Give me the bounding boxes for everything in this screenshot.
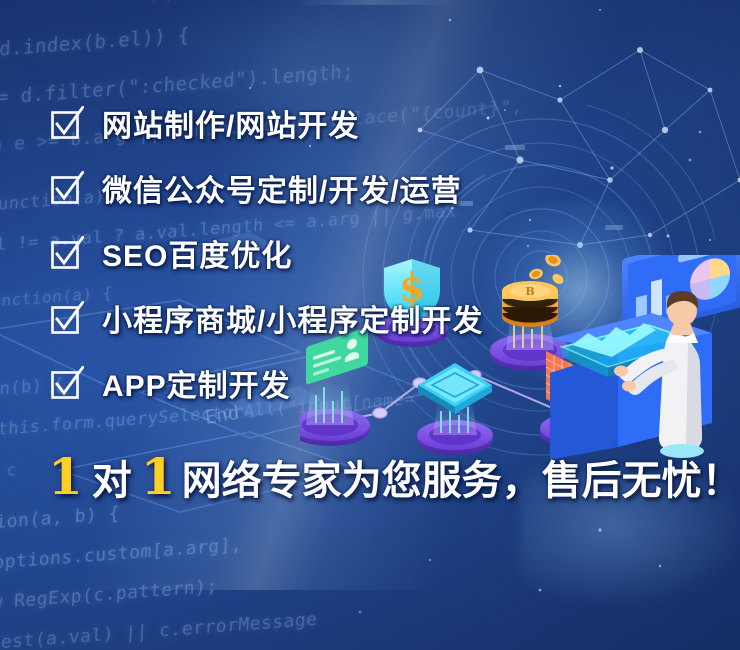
checklist-item-label: SEO百度优化 <box>102 231 292 275</box>
checklist-item-label: 小程序商城/小程序定制开发 <box>102 296 483 340</box>
checkbox-checked-icon <box>50 171 84 205</box>
headline-main-text: 网络专家为您服务，售后无忧！ <box>182 461 740 501</box>
checklist-item[interactable]: 小程序商城/小程序定制开发 <box>50 295 690 341</box>
checklist-item[interactable]: 网站制作/网站开发 <box>50 100 690 146</box>
headline-number-first: 1 <box>48 452 83 502</box>
checkbox-checked-icon <box>50 106 84 140</box>
checkbox-checked-icon <box>50 236 84 270</box>
checklist-item[interactable]: APP定制开发 <box>50 360 690 406</box>
checkbox-checked-icon <box>50 366 84 400</box>
checklist-item-label: APP定制开发 <box>102 361 291 405</box>
checklist-item[interactable]: SEO百度优化 <box>50 230 690 276</box>
checkbox-checked-icon <box>50 301 84 335</box>
headline-connector: 对 <box>92 461 132 501</box>
checklist-item[interactable]: 微信公众号定制/开发/运营 <box>50 165 690 211</box>
headline-number-second: 1 <box>141 452 176 502</box>
background-light-streak <box>0 0 740 5</box>
promo-banner: j.prop("disabled", !1), c.find("input[ty… <box>0 0 740 650</box>
headline: 1 对 1 网络专家为您服务，售后无忧！ <box>48 452 740 502</box>
checklist-item-label: 微信公众号定制/开发/运营 <box>102 166 462 210</box>
service-checklist: 网站制作/网站开发 微信公众号定制/开发/运营 SEO百度优化 <box>50 100 690 406</box>
checklist-item-label: 网站制作/网站开发 <box>102 101 359 145</box>
